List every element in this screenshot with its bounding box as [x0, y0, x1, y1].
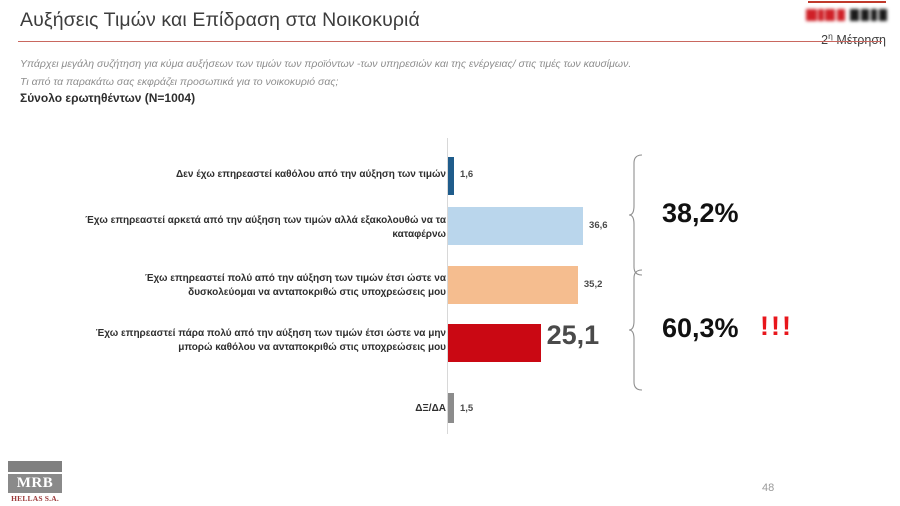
bar-value-label: 25,1 [547, 320, 600, 351]
page-title: Αυξήσεις Τιμών και Επίδραση στα Νοικοκυρ… [20, 9, 420, 32]
total-lower-label: 60,3% [662, 313, 739, 344]
bar-segment [448, 207, 583, 245]
mrb-logo-bar [8, 461, 62, 472]
category-label: Έχω επηρεαστεί αρκετά από την αύξηση των… [76, 214, 446, 241]
category-label: ΔΞ/ΔΑ [76, 402, 446, 416]
measurement-label: 2η Μέτρηση [821, 31, 886, 47]
question-line-2: Τι από τα παρακάτω σας εκφράζει προσωπικ… [20, 76, 338, 88]
category-label: Έχω επηρεαστεί πολύ από την αύξηση των τ… [76, 272, 446, 299]
mrb-logo-subtitle: HELLAS S.A. [8, 494, 62, 503]
page-number: 48 [762, 482, 774, 494]
bar-segment [448, 393, 454, 423]
title-divider [18, 41, 882, 42]
bar-segment [448, 266, 578, 304]
question-line-1: Υπάρχει μεγάλη συζήτηση για κύμα αυξήσεω… [20, 58, 631, 70]
bar-value-label: 1,5 [460, 403, 473, 414]
logo-top-rule [808, 1, 886, 3]
measurement-suffix: η [828, 31, 833, 41]
bar-value-label: 35,2 [584, 279, 603, 290]
sample-base-label: Σύνολο ερωτηθέντων (Ν=1004) [20, 91, 195, 105]
redacted-brand-logo [806, 7, 888, 24]
bracket-lower [628, 269, 650, 391]
mrb-logo-wordmark: MRB [8, 474, 62, 493]
bar-value-label: 36,6 [589, 220, 608, 231]
bar-segment [448, 157, 454, 195]
category-label: Δεν έχω επηρεαστεί καθόλου από την αύξησ… [76, 168, 446, 182]
mrb-logo: MRB HELLAS S.A. [8, 461, 68, 503]
slide-canvas: 2η Μέτρηση Αυξήσεις Τιμών και Επίδραση σ… [0, 0, 900, 506]
total-upper-label: 38,2% [662, 198, 739, 229]
bracket-upper [628, 154, 650, 276]
emphasis-marks: !!! [760, 311, 793, 342]
bar-value-label: 1,6 [460, 169, 473, 180]
category-label: Έχω επηρεαστεί πάρα πολύ από την αύξηση … [76, 327, 446, 354]
bar-segment [448, 324, 541, 362]
bar-chart: Δεν έχω επηρεαστεί καθόλου από την αύξησ… [0, 130, 900, 440]
